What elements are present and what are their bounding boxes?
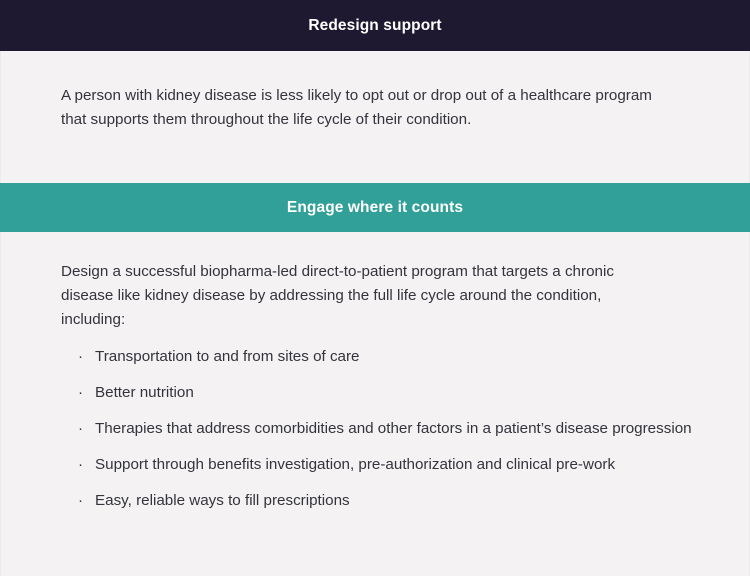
page-title: Redesign support	[308, 18, 441, 34]
intro-paragraph: A person with kidney disease is less lik…	[1, 84, 749, 132]
section-band: Engage where it counts	[0, 183, 750, 232]
list-item-label: Transportation to and from sites of care	[95, 348, 360, 365]
bullet-point-icon: ·	[78, 453, 83, 476]
bullet-list: · Transportation to and from sites of ca…	[1, 345, 749, 512]
list-item: · Easy, reliable ways to fill prescripti…	[78, 489, 694, 512]
list-item: · Transportation to and from sites of ca…	[78, 345, 694, 368]
bullet-point-icon: ·	[78, 489, 83, 512]
bullet-point-icon: ·	[78, 345, 83, 368]
intro-section: A person with kidney disease is less lik…	[0, 51, 750, 183]
list-item: · Therapies that address comorbidities a…	[78, 417, 694, 440]
body-paragraph: Design a successful biopharma-led direct…	[1, 260, 749, 332]
bullet-point-icon: ·	[78, 417, 83, 440]
list-item-label: Therapies that address comorbidities and…	[95, 420, 692, 437]
list-item-label: Support through benefits investigation, …	[95, 456, 615, 473]
list-item-label: Easy, reliable ways to fill prescription…	[95, 492, 350, 509]
section-title: Engage where it counts	[287, 200, 463, 216]
body-section: Design a successful biopharma-led direct…	[0, 232, 750, 576]
header-band: Redesign support	[0, 0, 750, 51]
list-item: · Better nutrition	[78, 381, 694, 404]
document-page: Redesign support A person with kidney di…	[0, 0, 750, 576]
list-item-label: Better nutrition	[95, 384, 194, 401]
bullet-point-icon: ·	[78, 381, 83, 404]
list-item: · Support through benefits investigation…	[78, 453, 694, 476]
